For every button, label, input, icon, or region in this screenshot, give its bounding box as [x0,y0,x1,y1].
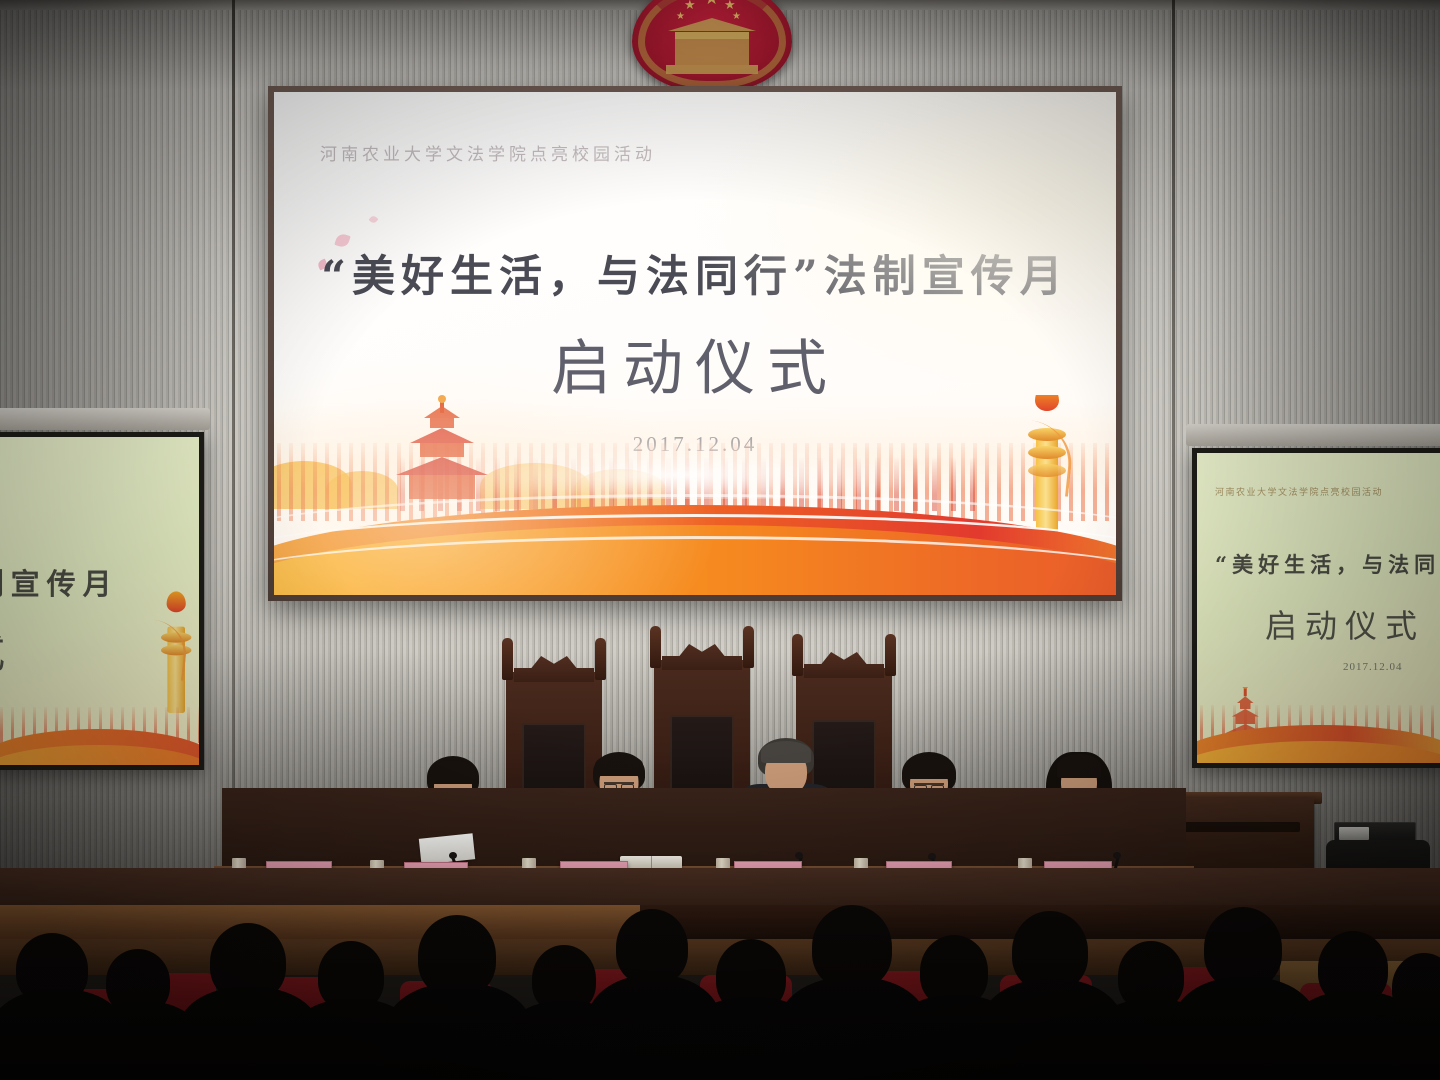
national-emblem-icon: ★ ★ ★ ★ ★ [632,0,792,92]
right-screen-date: 2017.12.04 [1343,661,1403,673]
screen-decoration-band [274,395,1116,595]
main-led-screen: 河南农业大学文法学院点亮校园活动 “美好生活，与法同行”法制宣传月 启动仪式 2… [268,86,1122,601]
right-screen-title: “美好生活，与法同行 [1215,549,1440,579]
screen-roller [1186,424,1440,446]
pagoda-graphic [382,403,502,499]
left-screen-decoration [0,689,199,765]
screen-title-text: “美好生活，与法同行”法制宣传月 [274,242,1116,304]
audience-area [0,905,1440,1080]
audience-member [616,909,688,985]
podium-panel [1180,822,1300,832]
ribbon-highlight [274,536,1116,595]
screen-subtitle-text: 启动仪式 [274,320,1116,407]
left-screen-title: 行”法制宣传月 [0,561,119,603]
left-screen-subtitle: 式 [0,619,15,680]
screen-header-text: 河南农业大学文法学院点亮校园活动 [320,140,656,165]
right-screen-subtitle: 启动仪式 [1265,601,1425,647]
projector-screen-right: 河南农业大学文法学院点亮校园活动 “美好生活，与法同行 启动仪式 2017.12… [1192,448,1440,768]
petal-decoration [369,215,379,225]
projector-screen-left: 行”法制宣传月 式 [0,432,204,770]
right-screen-header: 河南农业大学文法学院点亮校园活动 [1215,485,1383,498]
right-screen-decoration [1197,687,1440,763]
photo-scene: ★ ★ ★ ★ ★ 行”法制宣传月 式 [0,0,1440,1080]
screen-roller [0,408,210,430]
